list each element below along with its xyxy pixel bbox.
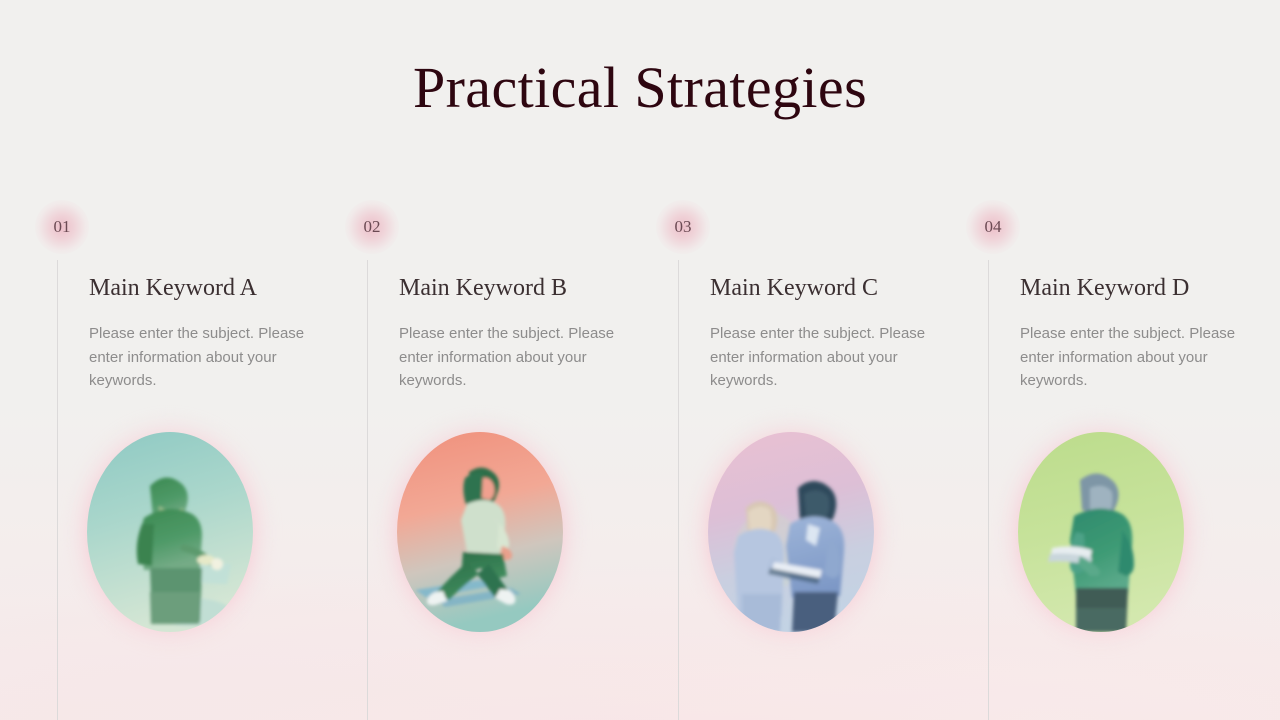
column-body-text: Please enter the subject. Please enter i… <box>89 322 339 393</box>
column-illustration <box>87 432 253 632</box>
person-walking-icon <box>397 432 563 632</box>
column-illustration <box>1018 432 1184 632</box>
column-divider <box>57 260 58 720</box>
column-divider <box>988 260 989 720</box>
column-heading: Main Keyword C <box>710 272 970 304</box>
column-divider <box>678 260 679 720</box>
column-body-text: Please enter the subject. Please enter i… <box>1020 322 1270 393</box>
step-number-badge: 02 <box>345 200 399 254</box>
column-04: 04 Main Keyword D Please enter the subje… <box>988 0 1280 720</box>
column-illustration <box>708 432 874 632</box>
column-03: 03 Main Keyword C Please enter the subje… <box>678 0 988 720</box>
step-number-badge: 04 <box>966 200 1020 254</box>
column-body-text: Please enter the subject. Please enter i… <box>399 322 649 393</box>
step-number-badge: 01 <box>35 200 89 254</box>
column-01: 01 Main Keyword A Please enter the subje… <box>57 0 367 720</box>
columns-container: 01 Main Keyword A Please enter the subje… <box>0 0 1280 720</box>
column-02: 02 Main Keyword B Please enter the subje… <box>367 0 677 720</box>
column-body-text: Please enter the subject. Please enter i… <box>710 322 960 393</box>
column-heading: Main Keyword D <box>1020 272 1280 304</box>
step-number-badge: 03 <box>656 200 710 254</box>
column-heading: Main Keyword A <box>89 272 349 304</box>
slide-root: Practical Strategies 01 Main Keyword A P… <box>0 0 1280 720</box>
column-illustration <box>397 432 563 632</box>
column-divider <box>367 260 368 720</box>
column-heading: Main Keyword B <box>399 272 659 304</box>
person-reading-document-icon <box>1018 432 1184 632</box>
two-people-handshake-icon <box>708 432 874 632</box>
person-standing-with-tray-icon <box>87 432 253 632</box>
